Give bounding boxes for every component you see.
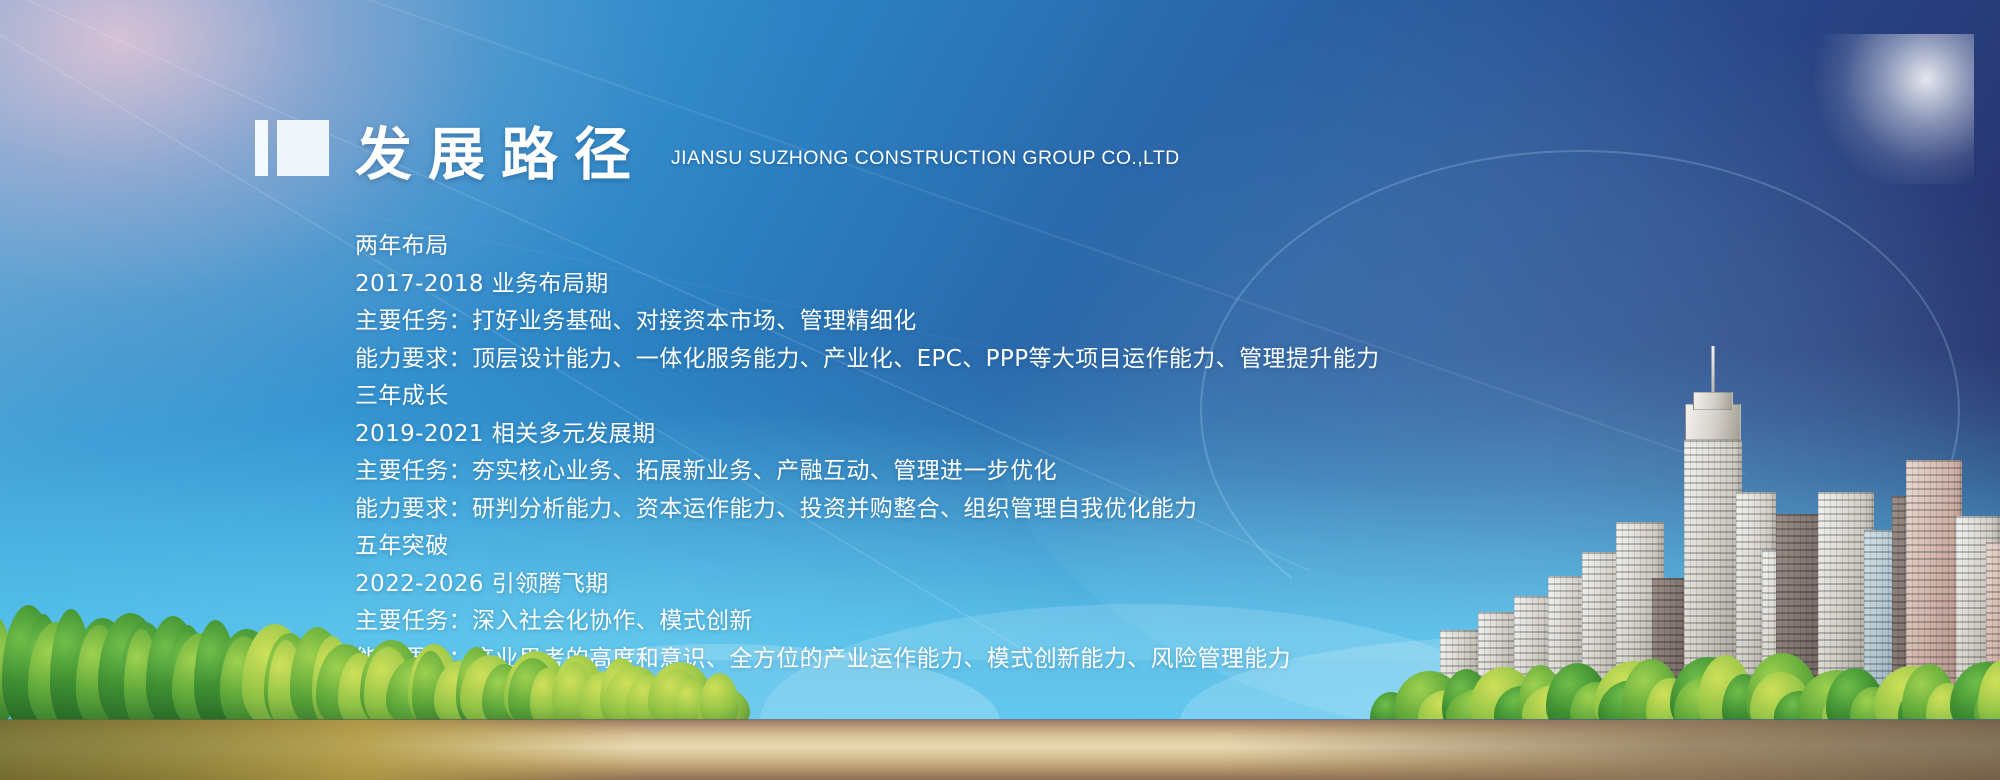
tree-line <box>0 598 760 728</box>
development-path-banner: 发展路径 JIANSU SUZHONG CONSTRUCTION GROUP C… <box>0 0 2000 780</box>
roadmap-line: 能力要求：顶层设计能力、一体化服务能力、产业化、EPC、PPP等大项目运作能力、… <box>355 341 1379 379</box>
company-subtitle: JIANSU SUZHONG CONSTRUCTION GROUP CO.,LT… <box>671 147 1180 170</box>
sandbar-right-tint <box>1220 720 2000 780</box>
page-title: 发展路径 <box>355 127 647 184</box>
tower-spire <box>1712 346 1715 392</box>
roadmap-line: 三年成长 <box>355 378 1379 416</box>
roadmap-line: 主要任务：夯实核心业务、拓展新业务、产融互动、管理进一步优化 <box>355 453 1379 491</box>
tower-crown-top <box>1693 392 1733 410</box>
logo-square-icon <box>277 120 329 176</box>
roadmap-line: 能力要求：研判分析能力、资本运作能力、投资并购整合、组织管理自我优化能力 <box>355 491 1379 529</box>
roadmap-line: 2017-2018 业务布局期 <box>355 266 1379 304</box>
roadmap-line: 两年布局 <box>355 228 1379 266</box>
logo-bar-icon <box>255 120 268 176</box>
sandbar-left-tint <box>0 720 640 780</box>
roadmap-line: 主要任务：打好业务基础、对接资本市场、管理精细化 <box>355 303 1379 341</box>
logo-mark-icon <box>255 120 329 176</box>
banner-header: 发展路径 JIANSU SUZHONG CONSTRUCTION GROUP C… <box>255 120 1180 184</box>
roadmap-line: 2019-2021 相关多元发展期 <box>355 416 1379 454</box>
roadmap-line: 五年突破 <box>355 528 1379 566</box>
